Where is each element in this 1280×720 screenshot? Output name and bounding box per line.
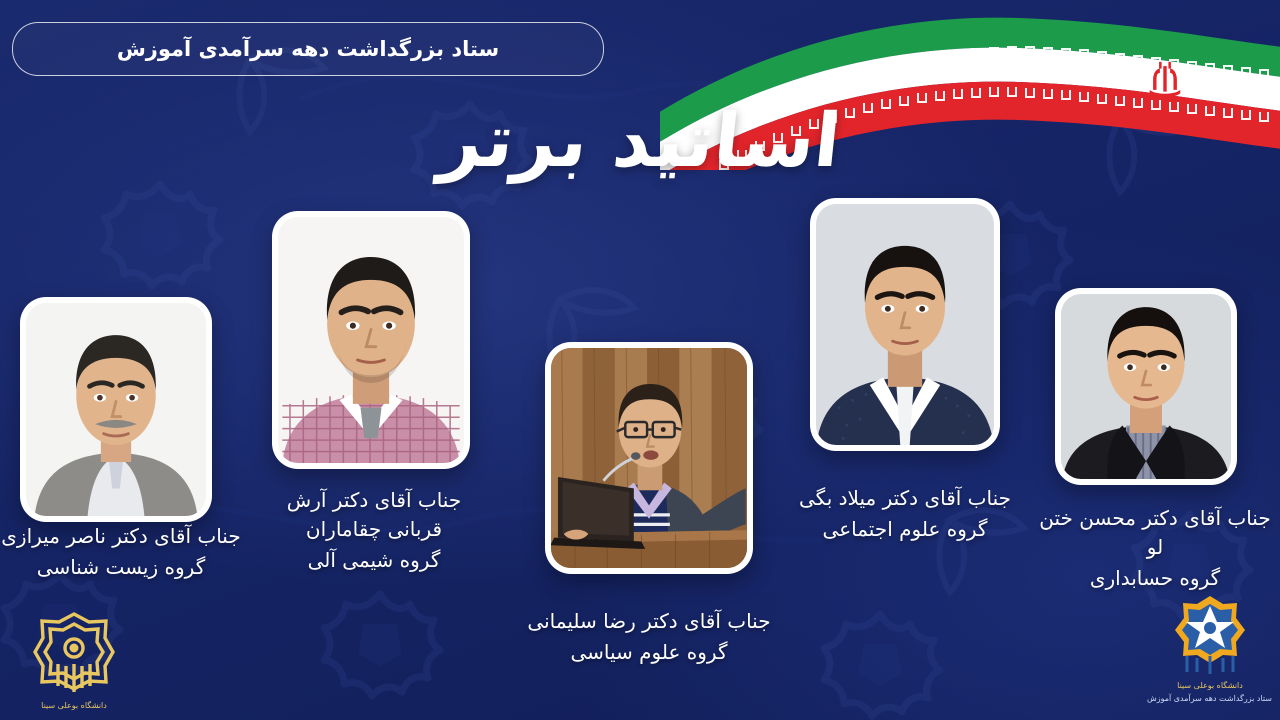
education-excellence-hq-logo: دانشگاه بوعلی سینا ستاد بزرگداشت دهه سرآ…	[1148, 592, 1272, 704]
header-badge-label: ستاد بزرگداشت دهه سرآمدی آموزش	[117, 37, 499, 61]
professor-department-1: گروه زیست شناسی	[0, 553, 242, 582]
university-logo-caption: دانشگاه بوعلی سینا	[18, 700, 130, 711]
professor-caption-4: جناب آقای دکتر میلاد بگی گروه علوم اجتما…	[780, 484, 1030, 544]
professor-name-3: جناب آقای دکتر رضا سلیمانی	[516, 607, 782, 636]
professor-caption-5: جناب آقای دکتر محسن ختن لو گروه حسابداری	[1030, 504, 1280, 593]
professor-name-2: جناب آقای دکتر آرش قربانی چقاماران	[258, 486, 490, 544]
excellence-logo-caption-line1: دانشگاه بوعلی سینا	[1148, 680, 1272, 691]
professor-photo-1	[26, 303, 206, 516]
professor-caption-2: جناب آقای دکتر آرش قربانی چقاماران گروه …	[258, 486, 490, 575]
professor-photo-4	[816, 204, 994, 445]
professor-name-5: جناب آقای دکتر محسن ختن لو	[1030, 504, 1280, 562]
poster-canvas: ستاد بزرگداشت دهه سرآمدی آموزش اساتید بر…	[0, 0, 1280, 720]
professor-photo-3	[551, 348, 747, 568]
professor-name-1: جناب آقای دکتر ناصر میرازی	[0, 522, 242, 551]
page-title: اساتید برتر	[0, 98, 1280, 184]
professor-photo-card-1	[20, 297, 212, 522]
professor-department-5: گروه حسابداری	[1030, 564, 1280, 593]
professor-caption-1: جناب آقای دکتر ناصر میرازی گروه زیست شنا…	[0, 522, 242, 582]
professor-department-4: گروه علوم اجتماعی	[780, 515, 1030, 544]
professor-photo-card-4	[810, 198, 1000, 451]
professor-photo-2	[278, 217, 464, 463]
professor-department-2: گروه شیمی آلی	[258, 546, 490, 575]
professor-photo-card-3	[545, 342, 753, 574]
professor-photo-5	[1061, 294, 1231, 479]
excellence-logo-caption-line2: ستاد بزرگداشت دهه سرآمدی آموزش	[1148, 693, 1272, 704]
professor-photo-card-2	[272, 211, 470, 469]
university-emblem-icon	[28, 608, 120, 694]
header-badge: ستاد بزرگداشت دهه سرآمدی آموزش	[12, 22, 604, 76]
bu-ali-sina-university-logo: دانشگاه بوعلی سینا	[18, 608, 130, 711]
excellence-emblem-icon	[1167, 592, 1253, 674]
professor-name-4: جناب آقای دکتر میلاد بگی	[780, 484, 1030, 513]
professor-caption-3: جناب آقای دکتر رضا سلیمانی گروه علوم سیا…	[516, 607, 782, 667]
professor-department-3: گروه علوم سیاسی	[516, 638, 782, 667]
professor-photo-card-5	[1055, 288, 1237, 485]
